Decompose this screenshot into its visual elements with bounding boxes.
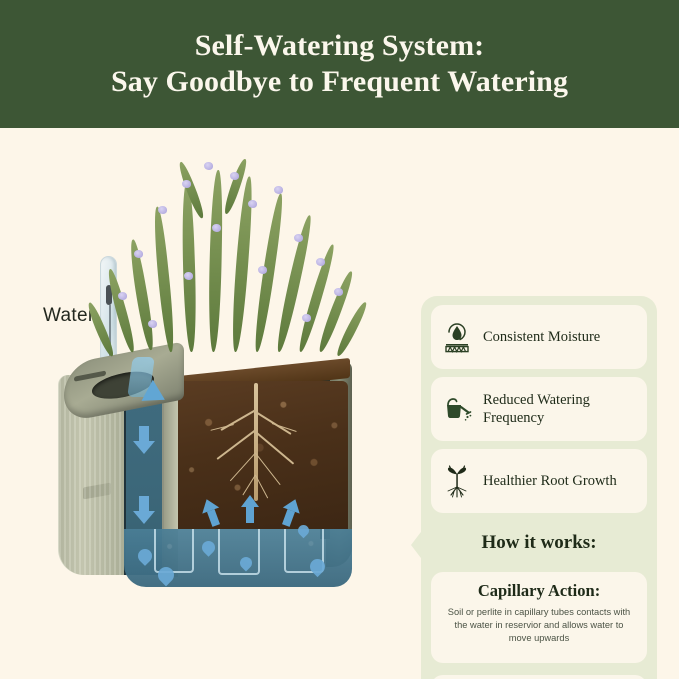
- rosemary-flower: [184, 272, 193, 280]
- planter-body: [58, 353, 348, 593]
- capillary-tube: [218, 529, 260, 575]
- header-banner: Self-Watering System: Say Goodbye to Fre…: [0, 0, 679, 128]
- rosemary-flower: [134, 250, 143, 258]
- benefit-card-reduced-watering-frequency[interactable]: Reduced Watering Frequency: [431, 377, 647, 441]
- benefit-card-healthier-root-growth[interactable]: Healthier Root Growth: [431, 449, 647, 513]
- benefit-label: Reduced Watering Frequency: [483, 391, 647, 427]
- rosemary-flower: [148, 320, 157, 328]
- rosemary-flower: [182, 180, 191, 188]
- watering-can-icon: [431, 394, 483, 424]
- planter-brand-mark: [83, 483, 111, 500]
- rosemary-flower: [316, 258, 325, 266]
- benefit-label: Consistent Moisture: [483, 328, 608, 346]
- rosemary-flower: [302, 314, 311, 322]
- water-label: Water: [43, 305, 94, 327]
- benefit-label: Healthier Root Growth: [483, 472, 625, 490]
- rosemary-flower: [212, 224, 221, 232]
- rosemary-plant: [88, 146, 378, 371]
- plant-leaf: [151, 206, 177, 352]
- content-stage: Water: [0, 128, 679, 679]
- rosemary-flower: [258, 266, 267, 274]
- plant-leaf: [85, 301, 117, 358]
- how-it-works-card-capillary-action[interactable]: Capillary Action: Soil or perlite in cap…: [431, 572, 647, 663]
- rosemary-flower: [274, 186, 283, 194]
- rosemary-flower: [158, 206, 167, 214]
- plant-leaf: [208, 170, 223, 352]
- rosemary-flower: [248, 200, 257, 208]
- how-it-works-card-title: Capillary Action:: [442, 581, 636, 601]
- how-it-works-card-body: Soil or perlite in capillary tubes conta…: [442, 606, 636, 646]
- page-title-line-1: Self-Watering System:: [195, 29, 485, 63]
- capillary-tube: [154, 529, 194, 573]
- rosemary-flower: [204, 162, 213, 170]
- moisture-drop-icon: [431, 321, 483, 353]
- rosemary-flower: [294, 234, 303, 242]
- page-title-line-2: Say Goodbye to Frequent Watering: [111, 65, 568, 99]
- planter-illustration: Water: [10, 138, 410, 668]
- rosemary-flower: [118, 292, 127, 300]
- seedling-roots-icon: [431, 463, 483, 499]
- benefit-card-consistent-moisture[interactable]: Consistent Moisture: [431, 305, 647, 369]
- root-main-taproot: [254, 383, 258, 501]
- how-it-works-title: How it works:: [421, 532, 657, 554]
- how-it-works-card-water-from-below[interactable]: Water from Below: Roots locate the moist…: [431, 675, 647, 679]
- rosemary-flower: [334, 288, 343, 296]
- rosemary-flower: [230, 172, 239, 180]
